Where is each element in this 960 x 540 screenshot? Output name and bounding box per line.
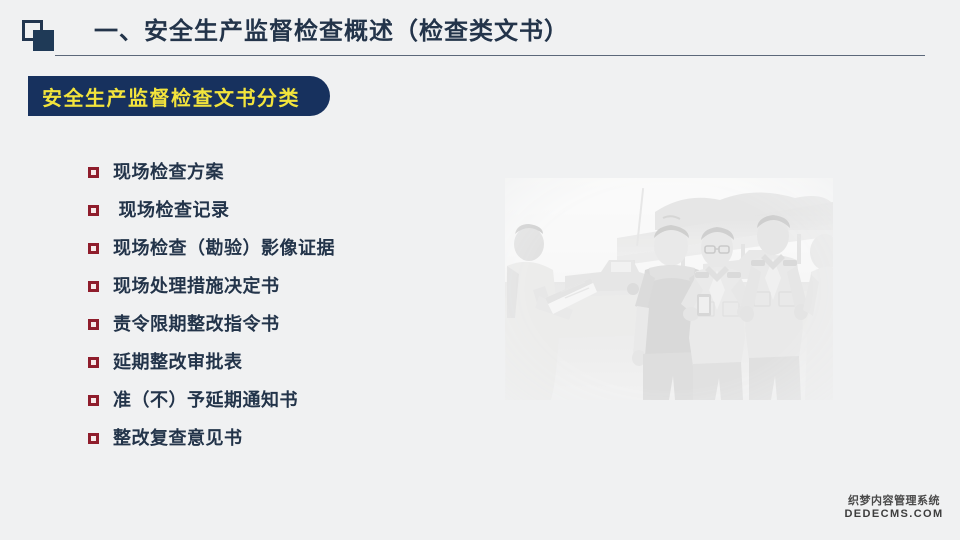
section-banner: 安全生产监督检查文书分类: [28, 76, 330, 116]
square-bullet-icon: [88, 205, 99, 216]
list-item: 现场检查（勘验）影像证据: [88, 229, 458, 267]
document-type-list: 现场检查方案 现场检查记录 现场检查（勘验）影像证据 现场处理措施决定书 责令限…: [88, 153, 458, 457]
watermark-chinese-text: 织梦内容管理系统: [838, 496, 950, 508]
list-item-label: 现场处理措施决定书: [113, 275, 280, 297]
two-overlapping-squares-icon: [22, 20, 60, 54]
square-bullet-icon: [88, 357, 99, 368]
square-bullet-icon: [88, 167, 99, 178]
list-item-label: 现场检查（勘验）影像证据: [113, 237, 335, 259]
square-bullet-icon: [88, 433, 99, 444]
section-banner-label: 安全生产监督检查文书分类: [42, 82, 300, 111]
list-item-label: 现场检查记录: [113, 199, 230, 221]
slide-header: 一、安全生产监督检查概述（检查类文书）: [0, 0, 960, 62]
page-title: 一、安全生产监督检查概述（检查类文书）: [94, 16, 569, 48]
header-divider: [55, 55, 925, 56]
list-item-label: 责令限期整改指令书: [113, 313, 280, 335]
watermark-english-text: DEDECMS.COM: [838, 509, 950, 521]
list-item: 整改复查意见书: [88, 419, 458, 457]
list-item: 责令限期整改指令书: [88, 305, 458, 343]
inspection-site-photo: [505, 178, 833, 400]
square-bullet-icon: [88, 281, 99, 292]
square-bullet-icon: [88, 243, 99, 254]
slide-root: 一、安全生产监督检查概述（检查类文书） 安全生产监督检查文书分类 现场检查方案 …: [0, 0, 960, 540]
square-bullet-icon: [88, 395, 99, 406]
list-item: 延期整改审批表: [88, 343, 458, 381]
square-bullet-icon: [88, 319, 99, 330]
list-item-label: 准（不）予延期通知书: [113, 389, 298, 411]
list-item-label: 延期整改审批表: [113, 351, 243, 373]
inspection-site-photo-image: [505, 178, 833, 400]
list-item: 准（不）予延期通知书: [88, 381, 458, 419]
list-item: 现场检查记录: [88, 191, 458, 229]
list-item-label: 现场检查方案: [113, 161, 224, 183]
list-item: 现场检查方案: [88, 153, 458, 191]
list-item-label: 整改复查意见书: [113, 427, 243, 449]
list-item: 现场处理措施决定书: [88, 267, 458, 305]
square-filled-shape: [33, 30, 54, 51]
watermark: 织梦内容管理系统 DEDECMS.COM: [838, 496, 950, 520]
